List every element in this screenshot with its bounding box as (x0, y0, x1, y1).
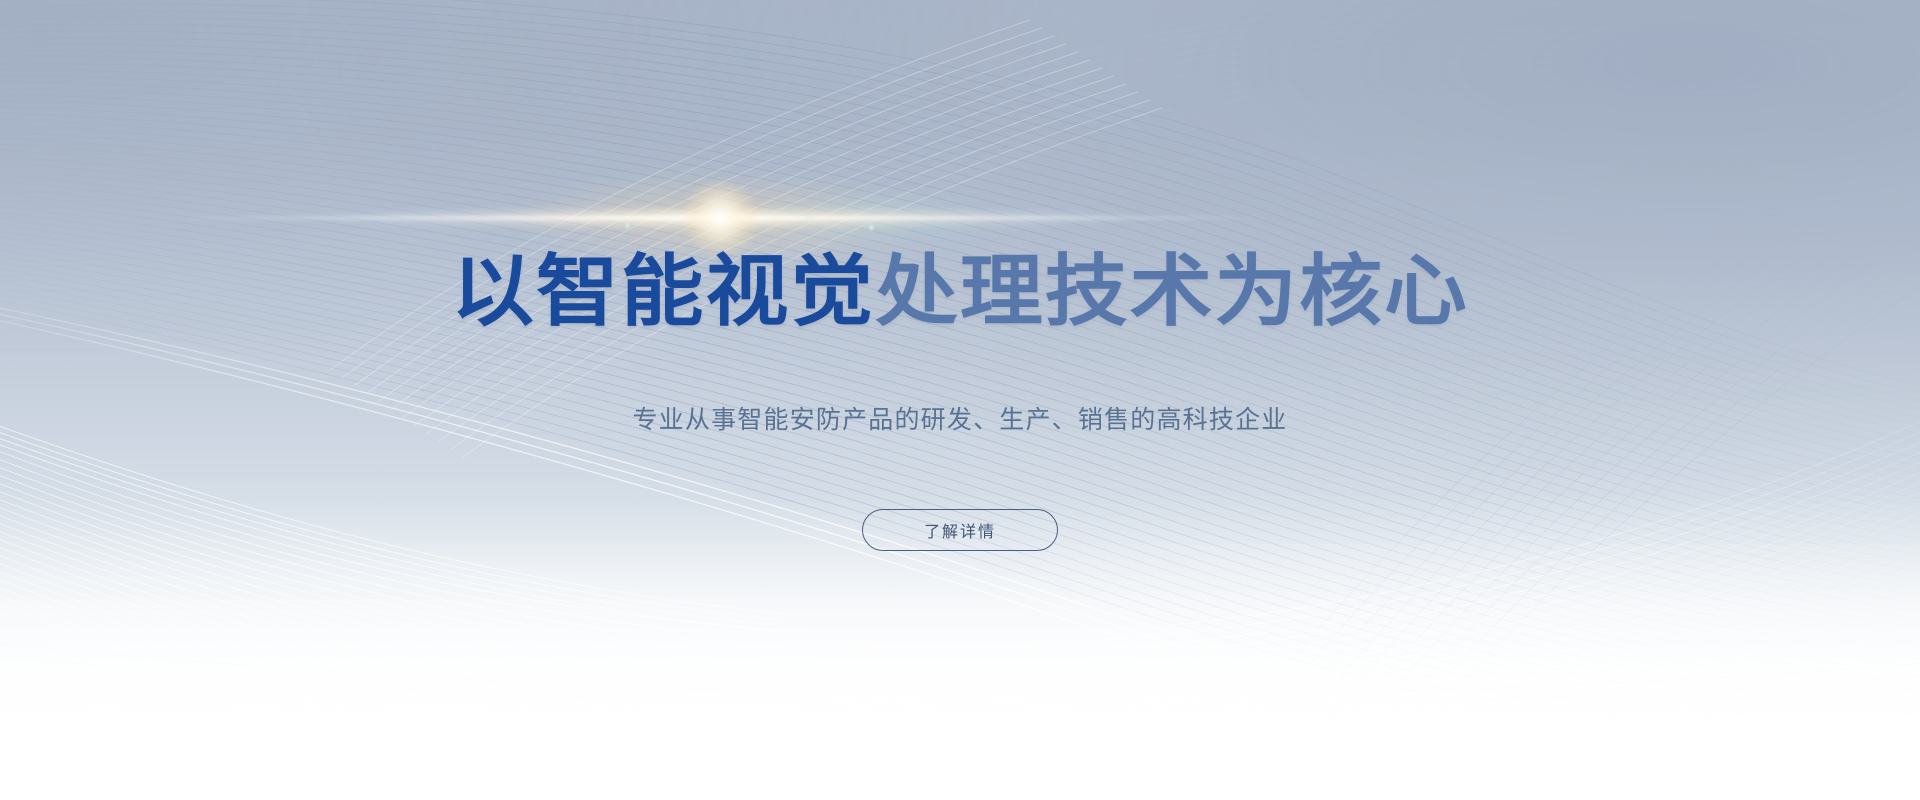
learn-more-button[interactable]: 了解详情 (862, 509, 1058, 551)
cta-container: 了解详情 (0, 509, 1920, 551)
page-title: 以智能视觉处理技术为核心 (0, 252, 1920, 330)
headline-segment-soft: 处理技术为核心 (875, 247, 1469, 335)
headline-segment-strong: 以智能视觉 (451, 247, 875, 335)
hero-subtitle: 专业从事智能安防产品的研发、生产、销售的高科技企业 (0, 403, 1920, 438)
hero-content: 以智能视觉处理技术为核心 专业从事智能安防产品的研发、生产、销售的高科技企业 了… (0, 0, 1920, 800)
hero-banner: 以智能视觉处理技术为核心 专业从事智能安防产品的研发、生产、销售的高科技企业 了… (0, 0, 1920, 800)
